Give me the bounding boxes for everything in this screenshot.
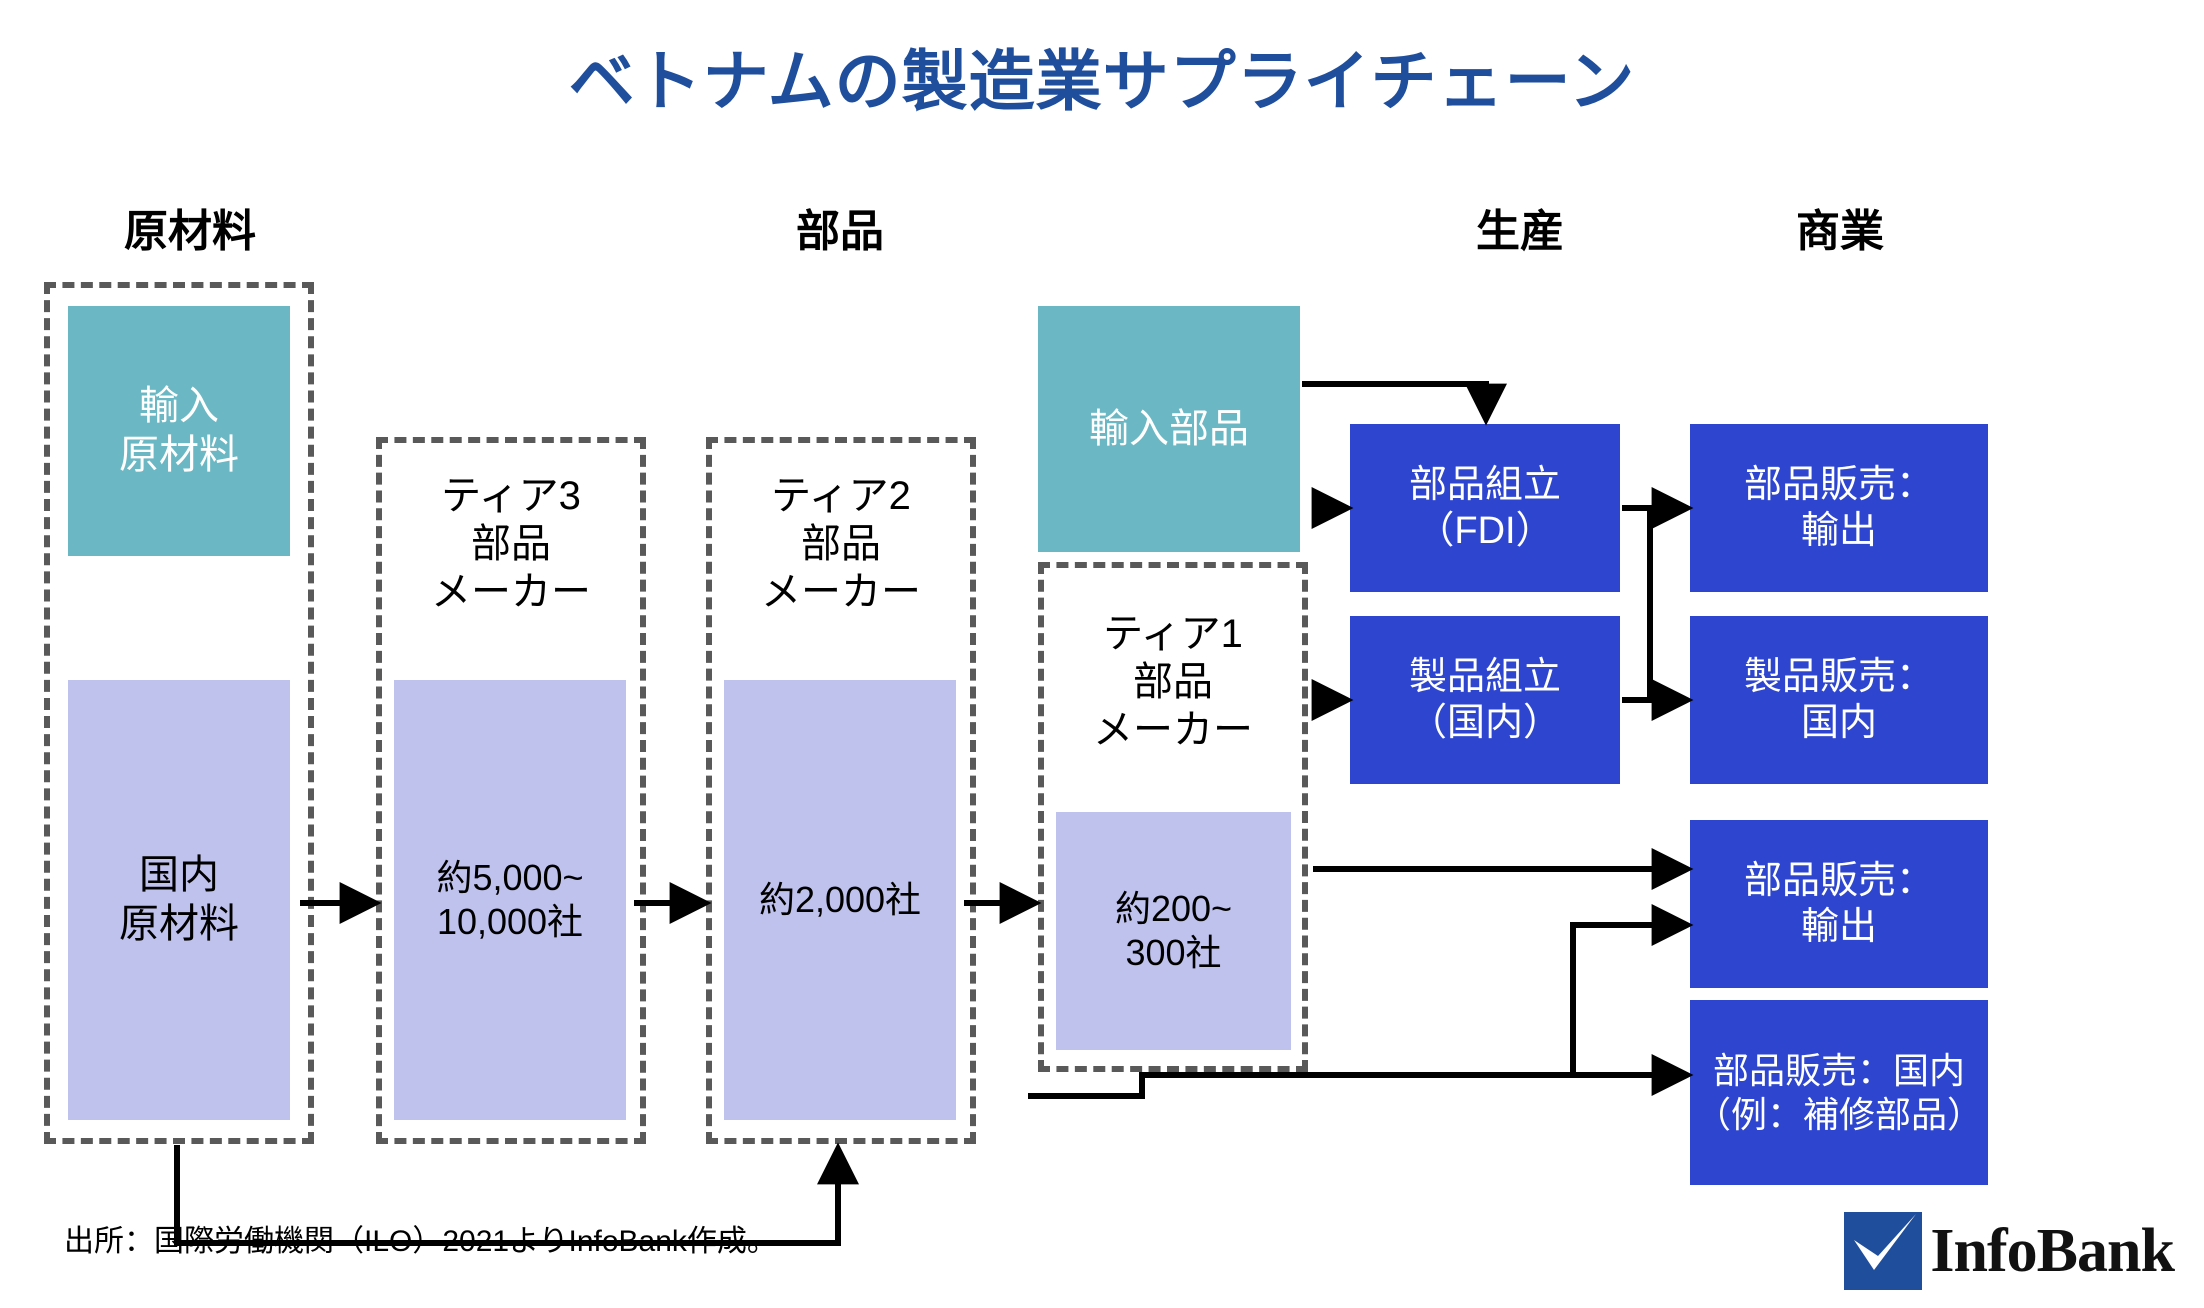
infobank-logo: InfoBank — [1844, 1212, 2174, 1290]
node-tier2-count[interactable]: 約2,000社 — [724, 680, 956, 1120]
node-sale-product-domestic[interactable]: 製品販売： 国内 — [1690, 616, 1988, 784]
page-title: ベトナムの製造業サプライチェーン — [0, 28, 2204, 124]
source-note: 出所：国際労働機関（ILO）2021よりInfoBank作成。 — [64, 1216, 777, 1260]
label-tier2: ティア2 部品 メーカー — [716, 472, 966, 616]
node-sale-parts-domestic-repair[interactable]: 部品販売：国内 （例：補修部品） — [1690, 1000, 1988, 1185]
arrow-tier1-to-sale-parts-domestic — [1028, 1075, 1684, 1096]
node-product-assembly-domestic[interactable]: 製品組立 （国内） — [1350, 616, 1620, 784]
column-header-production: 生産 — [1370, 195, 1670, 259]
node-imported-raw-materials[interactable]: 輸入 原材料 — [68, 306, 290, 556]
node-domestic-raw-materials[interactable]: 国内 原材料 — [68, 680, 290, 1120]
checkmark-icon — [1844, 1212, 1922, 1290]
node-parts-assembly-fdi[interactable]: 部品組立 （FDI） — [1350, 424, 1620, 592]
column-header-commerce: 商業 — [1680, 195, 2000, 259]
arrow-riser-to-sale-parts-export-bottom — [1573, 925, 1684, 1075]
label-tier3: ティア3 部品 メーカー — [386, 472, 636, 616]
node-tier1-count[interactable]: 約200~ 300社 — [1056, 812, 1291, 1050]
node-sale-parts-export-top[interactable]: 部品販売： 輸出 — [1690, 424, 1988, 592]
arrow-imported-parts-to-parts-assembly — [1302, 384, 1486, 416]
label-tier1: ティア1 部品 メーカー — [1046, 610, 1300, 754]
column-header-raw-materials: 原材料 — [40, 195, 340, 259]
node-sale-parts-export-bottom[interactable]: 部品販売： 輸出 — [1690, 820, 1988, 988]
node-imported-parts[interactable]: 輸入部品 — [1038, 306, 1300, 552]
logo-wordmark: InfoBank — [1930, 1220, 2174, 1282]
column-header-parts: 部品 — [690, 195, 990, 259]
node-tier3-count[interactable]: 約5,000~ 10,000社 — [394, 680, 626, 1120]
diagram-canvas: ベトナムの製造業サプライチェーン 原材料 部品 生産 商業 輸入 原材料 国内 … — [0, 0, 2204, 1308]
